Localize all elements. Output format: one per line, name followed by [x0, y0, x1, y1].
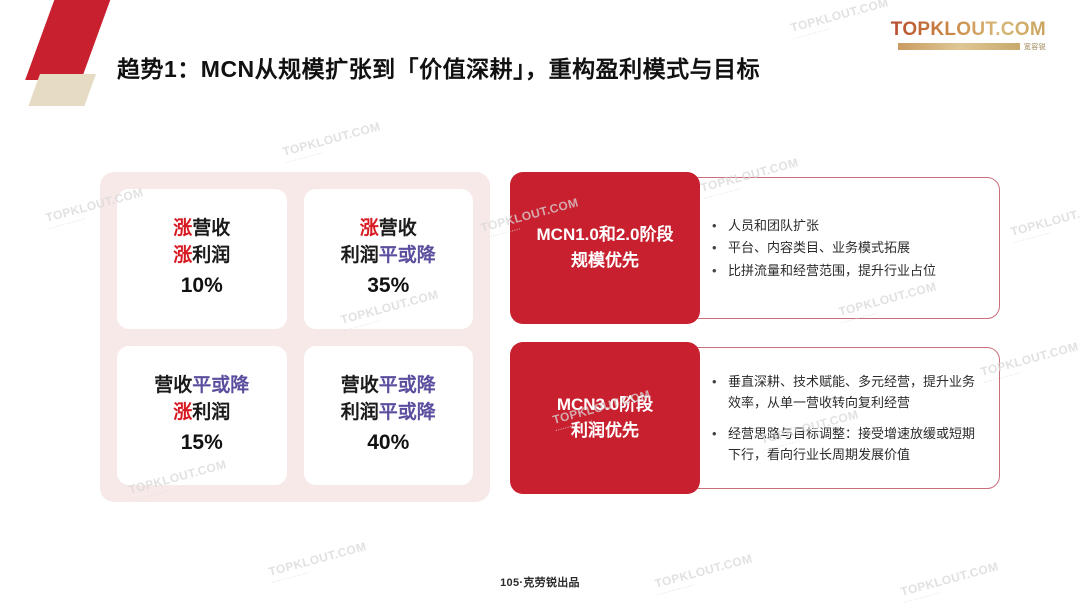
watermark-text: TOPKLOUT.COM — [1009, 199, 1080, 239]
watermark-subtext: ▪▪▪▪▪▪▪▪▪▪▪▪▪▪▪▪ — [285, 134, 383, 165]
watermark-text: TOPKLOUT.COM — [789, 0, 890, 35]
stage-badge-line-2: 利润优先 — [571, 418, 639, 444]
stage-badge[interactable]: MCN1.0和2.0阶段 规模优先 — [510, 172, 700, 324]
matrix-cell: 涨营收利润平或降35% — [304, 189, 474, 329]
brand-subtitle: 宽容锐 — [886, 42, 1046, 52]
brand-subtitle-cn: 宽容锐 — [1024, 42, 1046, 52]
matrix-cell: 涨营收涨利润10% — [117, 189, 287, 329]
matrix-cell-line: 涨利润 — [173, 400, 230, 427]
matrix-cell-percent: 40% — [367, 428, 409, 458]
matrix-cell: 营收平或降利润平或降40% — [304, 346, 474, 486]
watermark-subtext: ▪▪▪▪▪▪▪▪▪▪▪▪▪▪▪▪ — [793, 10, 891, 41]
matrix-cell-segment: 平或降 — [379, 245, 436, 266]
matrix-cell-segment: 涨 — [173, 218, 192, 239]
matrix-cell: 营收平或降涨利润15% — [117, 346, 287, 486]
matrix-cell-segment: 利润 — [341, 402, 379, 423]
matrix-cell-segment: 利润 — [192, 245, 230, 266]
stage-detail-box: 垂直深耕、技术赋能、多元经营，提升业务效率，从单一营收转向复利经营经营思路与目标… — [685, 347, 1000, 489]
stage-badge[interactable]: MCN3.0阶段 利润优先 — [510, 342, 700, 494]
watermark: TOPKLOUT.COM▪▪▪▪▪▪▪▪▪▪▪▪▪▪▪▪ — [1009, 199, 1080, 244]
watermark-subtext: ▪▪▪▪▪▪▪▪▪▪▪▪▪▪▪▪ — [1013, 214, 1080, 245]
matrix-cell-line: 涨营收 — [360, 216, 417, 243]
matrix-cell-segment: 平或降 — [379, 375, 436, 396]
matrix-cell-line: 涨营收 — [173, 216, 230, 243]
watermark-text: TOPKLOUT.COM — [281, 119, 382, 159]
stage-detail-box: 人员和团队扩张平台、内容类目、业务模式拓展比拼流量和经营范围，提升行业占位 — [685, 177, 1000, 319]
stage-bullet-item: 经营思路与目标调整：接受增速放缓或短期下行，看向行业长周期发展价值 — [712, 423, 985, 465]
matrix-cell-line: 涨利润 — [173, 243, 230, 270]
stage-bullet-item: 人员和团队扩张 — [712, 215, 985, 236]
stage-badge-line-1: MCN1.0和2.0阶段 — [537, 222, 674, 248]
stage-row-mcn-3: 垂直深耕、技术赋能、多元经营，提升业务效率，从单一营收转向复利经营经营思路与目标… — [510, 342, 1000, 494]
stage-badge-line-1: MCN3.0阶段 — [557, 392, 653, 418]
matrix-cell-segment: 营收 — [341, 375, 379, 396]
matrix-cell-segment: 涨 — [173, 402, 192, 423]
watermark: TOPKLOUT.COM▪▪▪▪▪▪▪▪▪▪▪▪▪▪▪▪ — [789, 0, 891, 41]
matrix-cell-line: 利润平或降 — [341, 243, 436, 270]
footer-credit: 105·克劳锐出品 — [0, 574, 1080, 590]
stage-bullet-list: 垂直深耕、技术赋能、多元经营，提升业务效率，从单一营收转向复利经营经营思路与目标… — [712, 362, 985, 473]
stage-bullet-item: 垂直深耕、技术赋能、多元经营，提升业务效率，从单一营收转向复利经营 — [712, 371, 985, 413]
stage-badge-line-2: 规模优先 — [571, 248, 639, 274]
matrix-cell-segment: 营收 — [379, 218, 417, 239]
watermark: TOPKLOUT.COM▪▪▪▪▪▪▪▪▪▪▪▪▪▪▪▪ — [281, 119, 383, 164]
brand-logo: TOPKLOUT.COM 宽容锐 — [886, 20, 1046, 52]
matrix-cell-segment: 营收 — [154, 375, 192, 396]
matrix-cell-segment: 营收 — [192, 218, 230, 239]
revenue-profit-matrix-panel: 涨营收涨利润10%涨营收利润平或降35%营收平或降涨利润15%营收平或降利润平或… — [100, 172, 490, 502]
watermark-text: TOPKLOUT.COM — [267, 539, 368, 579]
page-title: 趋势1：MCN从规模扩张到「价值深耕」，重构盈利模式与目标 — [117, 50, 760, 84]
brand-tagline-bar — [898, 43, 1020, 50]
matrix-cell-segment: 平或降 — [379, 402, 436, 423]
stage-bullet-item: 比拼流量和经营范围，提升行业占位 — [712, 260, 985, 281]
matrix-cell-segment: 利润 — [341, 245, 379, 266]
brand-name: TOPKLOUT.COM — [886, 20, 1046, 40]
matrix-cell-segment: 涨 — [173, 245, 192, 266]
corner-tan-shape — [28, 74, 96, 106]
matrix-grid: 涨营收涨利润10%涨营收利润平或降35%营收平或降涨利润15%营收平或降利润平或… — [117, 189, 473, 485]
matrix-cell-segment: 涨 — [360, 218, 379, 239]
stage-bullet-list: 人员和团队扩张平台、内容类目、业务模式拓展比拼流量和经营范围，提升行业占位 — [712, 214, 985, 281]
stage-bullet-item: 平台、内容类目、业务模式拓展 — [712, 237, 985, 258]
matrix-cell-percent: 35% — [367, 271, 409, 301]
matrix-cell-segment: 利润 — [192, 402, 230, 423]
matrix-cell-line: 营收平或降 — [341, 373, 436, 400]
matrix-cell-percent: 10% — [181, 271, 223, 301]
stage-row-mcn-1-2: 人员和团队扩张平台、内容类目、业务模式拓展比拼流量和经营范围，提升行业占位 MC… — [510, 172, 1000, 324]
matrix-cell-segment: 平或降 — [192, 375, 249, 396]
matrix-cell-percent: 15% — [181, 428, 223, 458]
matrix-cell-line: 营收平或降 — [154, 373, 249, 400]
matrix-cell-line: 利润平或降 — [341, 400, 436, 427]
corner-red-shape — [25, 0, 111, 80]
